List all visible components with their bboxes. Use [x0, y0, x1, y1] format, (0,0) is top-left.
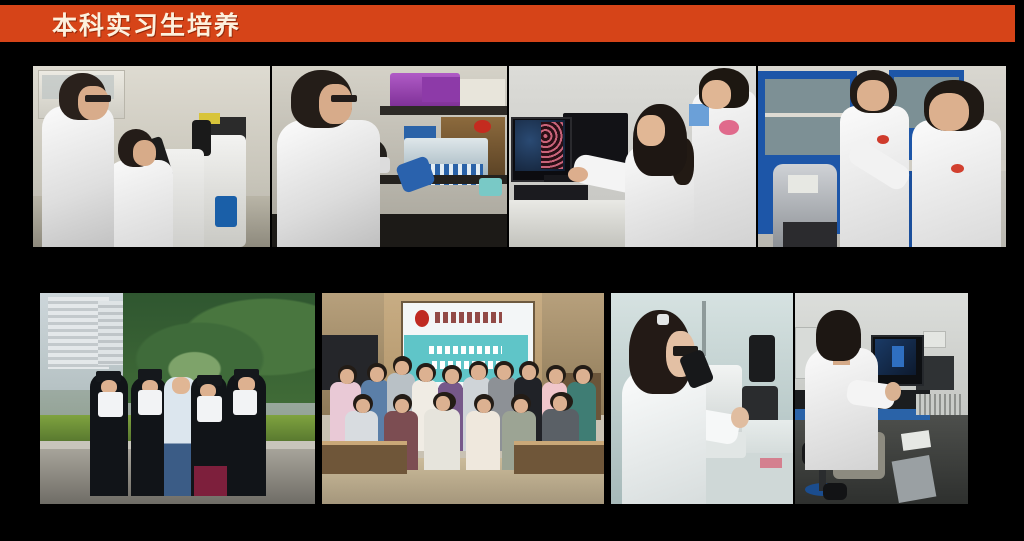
photo-student-microscope [611, 293, 793, 504]
slide-canvas: 本科实习生培养 [0, 0, 1024, 541]
photo-student-workstation [795, 293, 968, 504]
photo-thesis-defense-group [322, 293, 604, 504]
page-title: 本科实习生培养 [52, 6, 241, 42]
photo-computer-image-analysis [509, 66, 756, 247]
university-logo-icon [415, 310, 429, 327]
photo-lab-microscope-pair [33, 66, 270, 247]
photo-lab-reagent-bench [272, 66, 507, 247]
title-banner: 本科实习生培养 [0, 5, 1015, 42]
photo-graduation-group [40, 293, 315, 504]
photo-instrument-demonstration [758, 66, 1006, 247]
